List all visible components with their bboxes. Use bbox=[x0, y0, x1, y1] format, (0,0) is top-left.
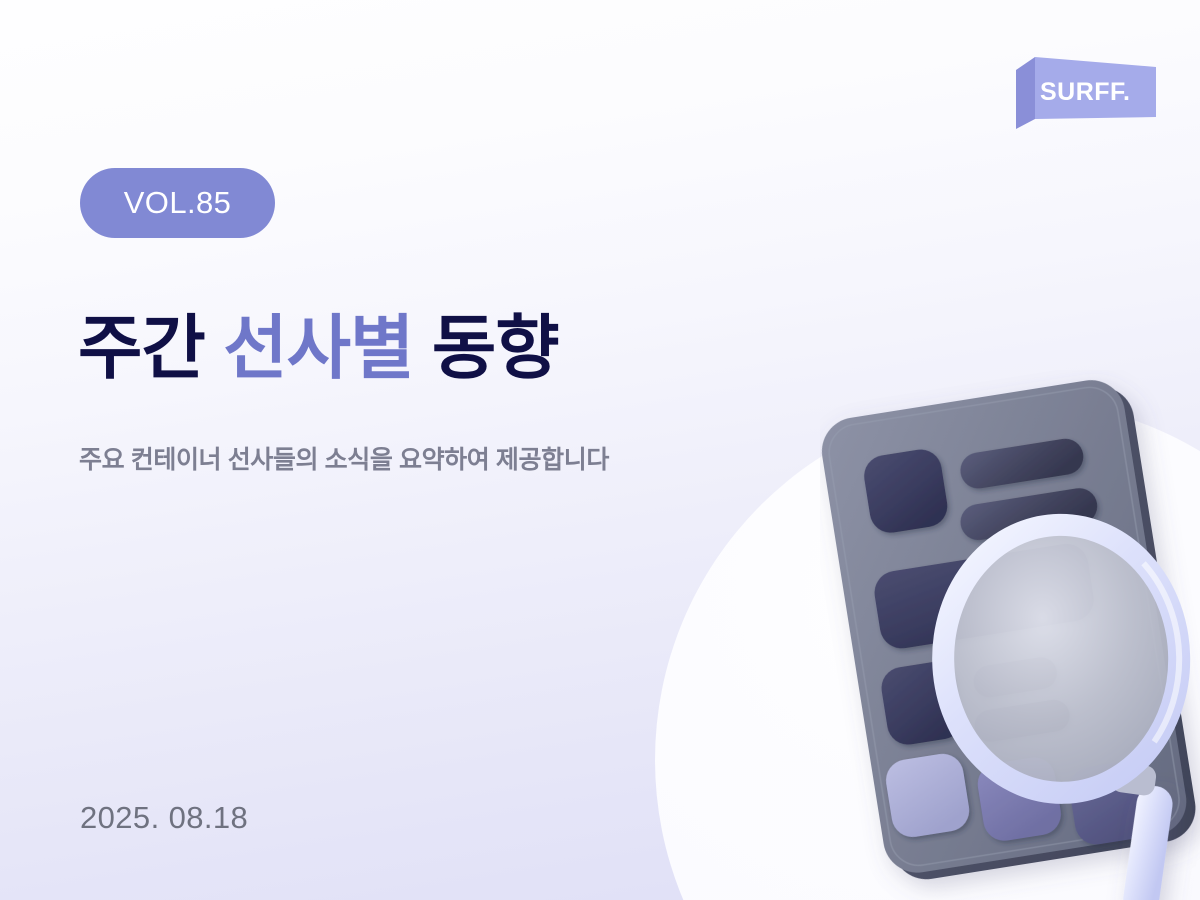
volume-badge-label: VOL.85 bbox=[124, 185, 232, 221]
title-segment-accent: 선사별 bbox=[223, 309, 413, 387]
logo-wordmark: SURFF. bbox=[1040, 80, 1131, 105]
surff-logo[interactable]: SURFF. bbox=[1016, 57, 1156, 135]
page-subtitle: 주요 컨테이너 선사들의 소식을 요약하여 제공합니다 bbox=[79, 440, 609, 476]
swatch-1 bbox=[883, 751, 972, 840]
title-segment-dark-2: 동향 bbox=[413, 309, 558, 387]
issue-date: 2025. 08.18 bbox=[80, 800, 248, 836]
title-segment-dark-1: 주간 bbox=[78, 309, 223, 387]
newsletter-cover: SURFF. VOL.85 주간 선사별 동향 주요 컨테이너 선사들의 소식을… bbox=[0, 0, 1200, 900]
volume-badge: VOL.85 bbox=[80, 168, 275, 238]
page-title: 주간 선사별 동향 bbox=[78, 309, 559, 387]
document-with-magnifier-3d-icon bbox=[820, 370, 1200, 900]
